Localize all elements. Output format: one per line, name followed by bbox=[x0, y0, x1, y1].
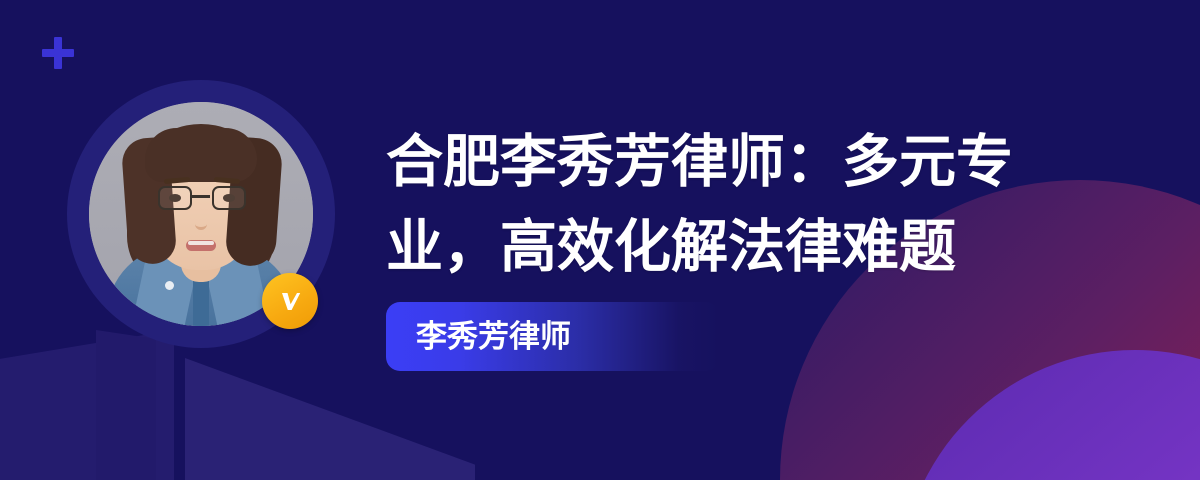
background-polygon-wedge bbox=[185, 358, 475, 480]
page-title: 合肥李秀芳律师：多元专业，高效化解法律难题 bbox=[386, 120, 1046, 290]
lawyer-profile-banner: 合肥李秀芳律师：多元专业，高效化解法律难题 李秀芳律师 bbox=[0, 0, 1200, 480]
verified-badge-icon bbox=[262, 273, 318, 329]
background-polygon-band bbox=[96, 330, 156, 480]
plus-icon bbox=[42, 37, 74, 69]
avatar bbox=[67, 80, 335, 348]
background-polygon-left bbox=[0, 330, 450, 480]
lawyer-name-chip[interactable]: 李秀芳律师 bbox=[386, 302, 720, 371]
banner-content: 合肥李秀芳律师：多元专业，高效化解法律难题 李秀芳律师 bbox=[386, 120, 1046, 371]
